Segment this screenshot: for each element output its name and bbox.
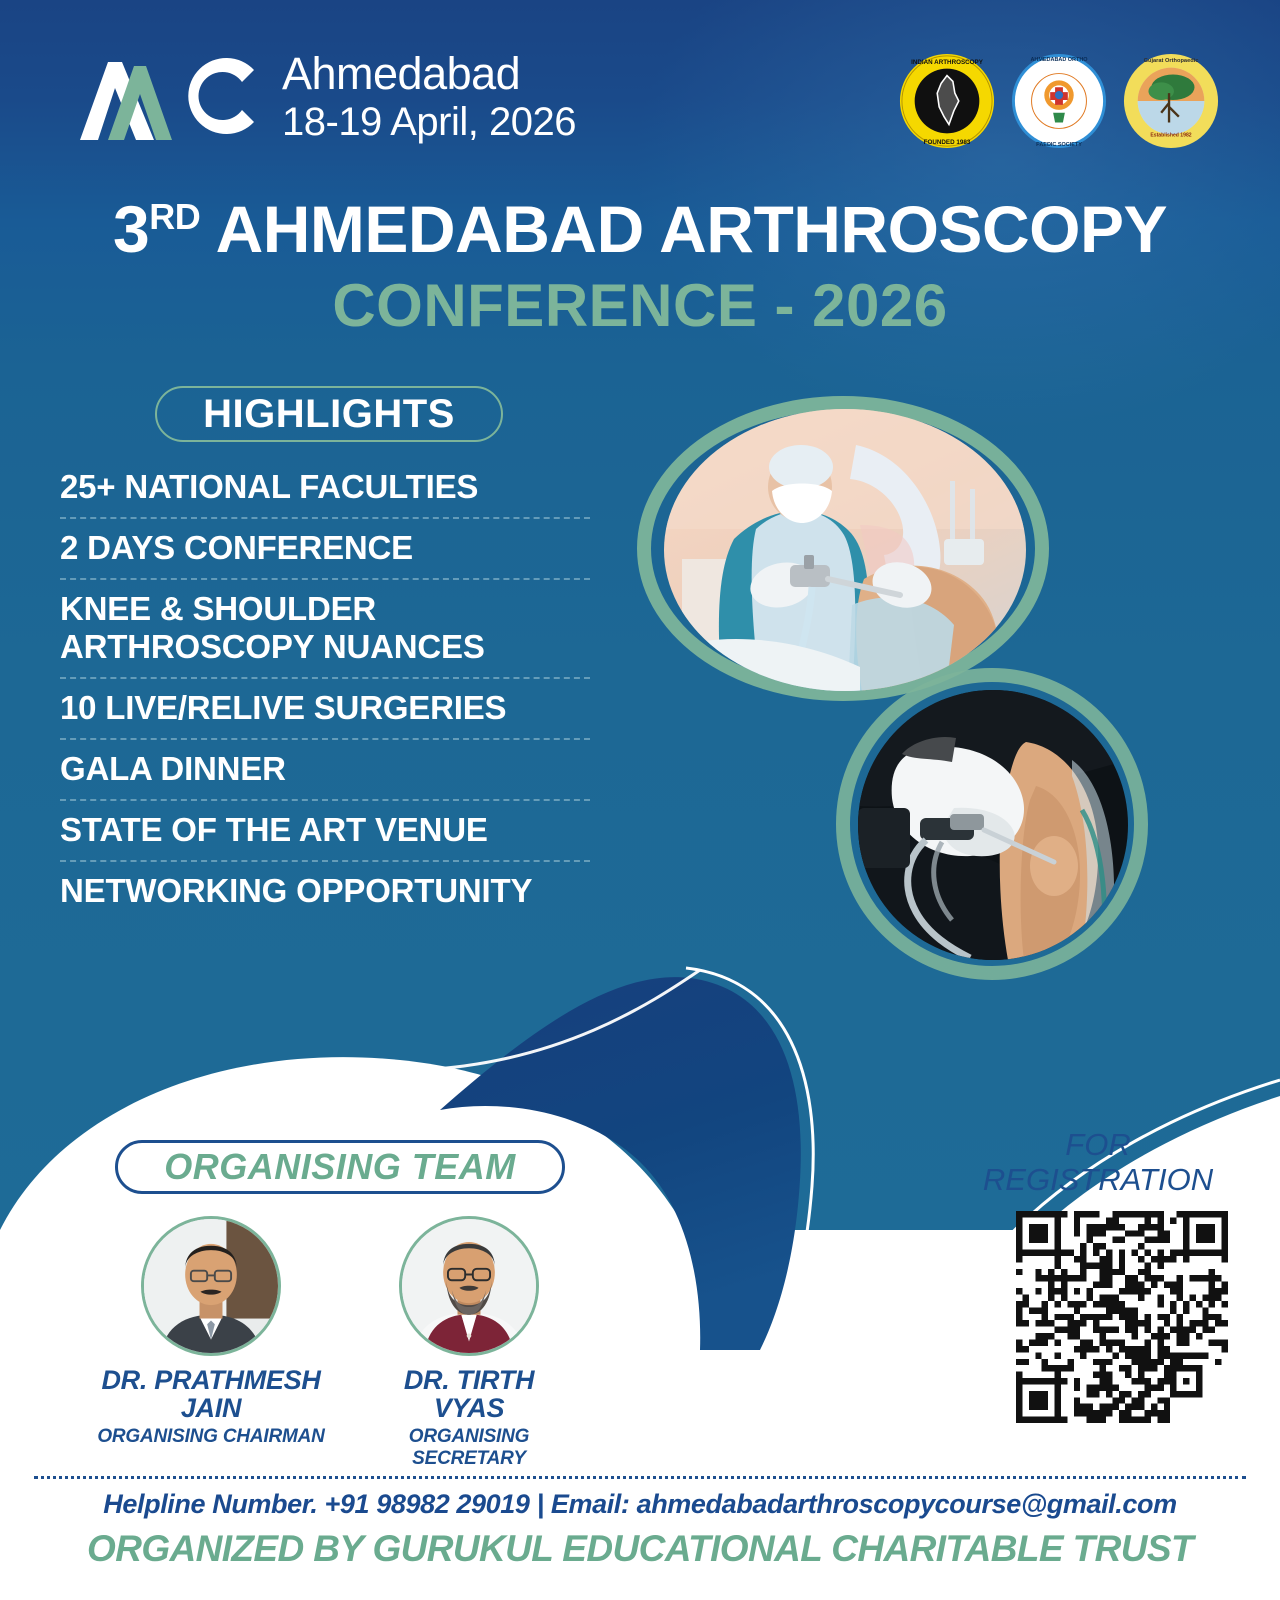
knee-arthroscopy-closeup-photo (858, 690, 1128, 960)
avatar (399, 1216, 539, 1356)
highlights-heading-pill: HIGHLIGHTS (155, 386, 503, 442)
highlight-item-text: NETWORKING OPPORTUNITY (60, 872, 532, 909)
highlight-item-text: 2 DAYS CONFERENCE (60, 529, 413, 566)
highlight-item-text: STATE OF THE ART VENUE (60, 811, 488, 848)
svg-text:INDIAN ARTHROSCOPY: INDIAN ARTHROSCOPY (911, 59, 984, 66)
svg-text:PAEDIC SOCIETY: PAEDIC SOCIETY (1036, 142, 1082, 148)
organising-team-section: ORGANISING TEAM (80, 1140, 600, 1470)
title-number: 3 (113, 192, 149, 266)
title-line-2: CONFERENCE - 2026 (0, 276, 1280, 336)
conference-poster: Ahmedabad 18-19 April, 2026 INDIAN ARTHR… (0, 0, 1280, 1600)
event-logo: Ahmedabad 18-19 April, 2026 (78, 48, 576, 144)
svg-text:FOUNDED 1983: FOUNDED 1983 (924, 139, 971, 146)
organising-team-heading-label: ORGANISING TEAM (164, 1146, 516, 1188)
highlight-item-text: GALA DINNER (60, 750, 286, 787)
logo-dates-label: 18-19 April, 2026 (282, 102, 576, 142)
registration-label-line-2: REGISTRATION (983, 1162, 1213, 1197)
highlight-item-text-second-line: ARTHROSCOPY NUANCES (60, 628, 590, 666)
team-member-role: ORGANISING CHAIRMAN (96, 1426, 326, 1448)
registration-label: FOR REGISTRATION (968, 1128, 1228, 1197)
registration-section: FOR REGISTRATION (968, 1128, 1228, 1423)
poster-header: Ahmedabad 18-19 April, 2026 INDIAN ARTHR… (0, 0, 1280, 180)
team-member-name-line-1: DR. TIRTH (404, 1365, 534, 1395)
team-member-name-line-2: JAIN (181, 1393, 241, 1423)
highlight-item-text: KNEE & SHOULDER (60, 590, 590, 628)
highlight-item: 10 LIVE/RELIVE SURGERIES (60, 679, 590, 740)
avatar (141, 1216, 281, 1356)
team-member-name: DR. PRATHMESH JAIN (96, 1366, 326, 1423)
footer-divider (34, 1476, 1246, 1479)
title-main-text: AHMEDABAD ARTHROSCOPY (216, 192, 1167, 266)
organising-team-heading-pill: ORGANISING TEAM (115, 1140, 565, 1194)
team-member-name: DR. TIRTH VYAS (354, 1366, 584, 1423)
title-ordinal: RD (149, 196, 200, 237)
registration-label-line-1: FOR (1065, 1127, 1130, 1162)
arthroscopy-operating-room-photo (664, 409, 1026, 691)
highlight-item-text: 10 LIVE/RELIVE SURGERIES (60, 689, 506, 726)
organising-team-members: DR. PRATHMESH JAIN ORGANISING CHAIRMAN (80, 1216, 600, 1470)
society-logos-group: INDIAN ARTHROSCOPY FOUNDED 1983 AHMEDABA… (898, 52, 1220, 150)
highlight-item: NETWORKING OPPORTUNITY (60, 862, 590, 921)
ahmedabad-orthopaedic-society-logo-icon: AHMEDABAD ORTHO PAEDIC SOCIETY (1010, 52, 1108, 150)
team-member: DR. TIRTH VYAS ORGANISING SECRETARY (354, 1216, 584, 1470)
gujarat-orthopaedic-association-logo-icon: Gujarat Orthopaedic Established 1982 (1122, 52, 1220, 150)
logo-city-label: Ahmedabad (282, 51, 576, 96)
team-member-name-line-2: VYAS (434, 1393, 504, 1423)
highlights-list: 25+ NATIONAL FACULTIES 2 DAYS CONFERENCE… (60, 458, 590, 921)
indian-arthroscopy-society-logo-icon: INDIAN ARTHROSCOPY FOUNDED 1983 (898, 52, 996, 150)
team-member-name-line-1: DR. PRATHMESH (101, 1365, 320, 1395)
svg-text:Gujarat Orthopaedic: Gujarat Orthopaedic (1144, 58, 1199, 64)
aac-mountain-logo-icon (78, 48, 260, 144)
footer-organizer-text: ORGANIZED BY GURUKUL EDUCATIONAL CHARITA… (0, 1528, 1280, 1570)
highlight-item: GALA DINNER (60, 740, 590, 801)
highlight-item: 2 DAYS CONFERENCE (60, 519, 590, 580)
team-member-role: ORGANISING SECRETARY (354, 1426, 584, 1470)
highlight-item-text: 25+ NATIONAL FACULTIES (60, 468, 478, 505)
svg-text:Established 1982: Established 1982 (1150, 132, 1191, 138)
team-member: DR. PRATHMESH JAIN ORGANISING CHAIRMAN (96, 1216, 326, 1470)
highlight-item: 25+ NATIONAL FACULTIES (60, 458, 590, 519)
registration-qr-code[interactable] (1016, 1211, 1228, 1423)
footer-contact-text: Helpline Number. +91 98982 29019 | Email… (0, 1489, 1280, 1520)
highlights-heading-label: HIGHLIGHTS (203, 392, 455, 437)
svg-text:AHMEDABAD ORTHO: AHMEDABAD ORTHO (1030, 57, 1088, 63)
poster-title: 3RD AHMEDABAD ARTHROSCOPY CONFERENCE - 2… (0, 196, 1280, 336)
title-line-1: 3RD AHMEDABAD ARTHROSCOPY (0, 196, 1280, 262)
highlight-item: KNEE & SHOULDER ARTHROSCOPY NUANCES (60, 580, 590, 679)
highlight-item: STATE OF THE ART VENUE (60, 801, 590, 862)
